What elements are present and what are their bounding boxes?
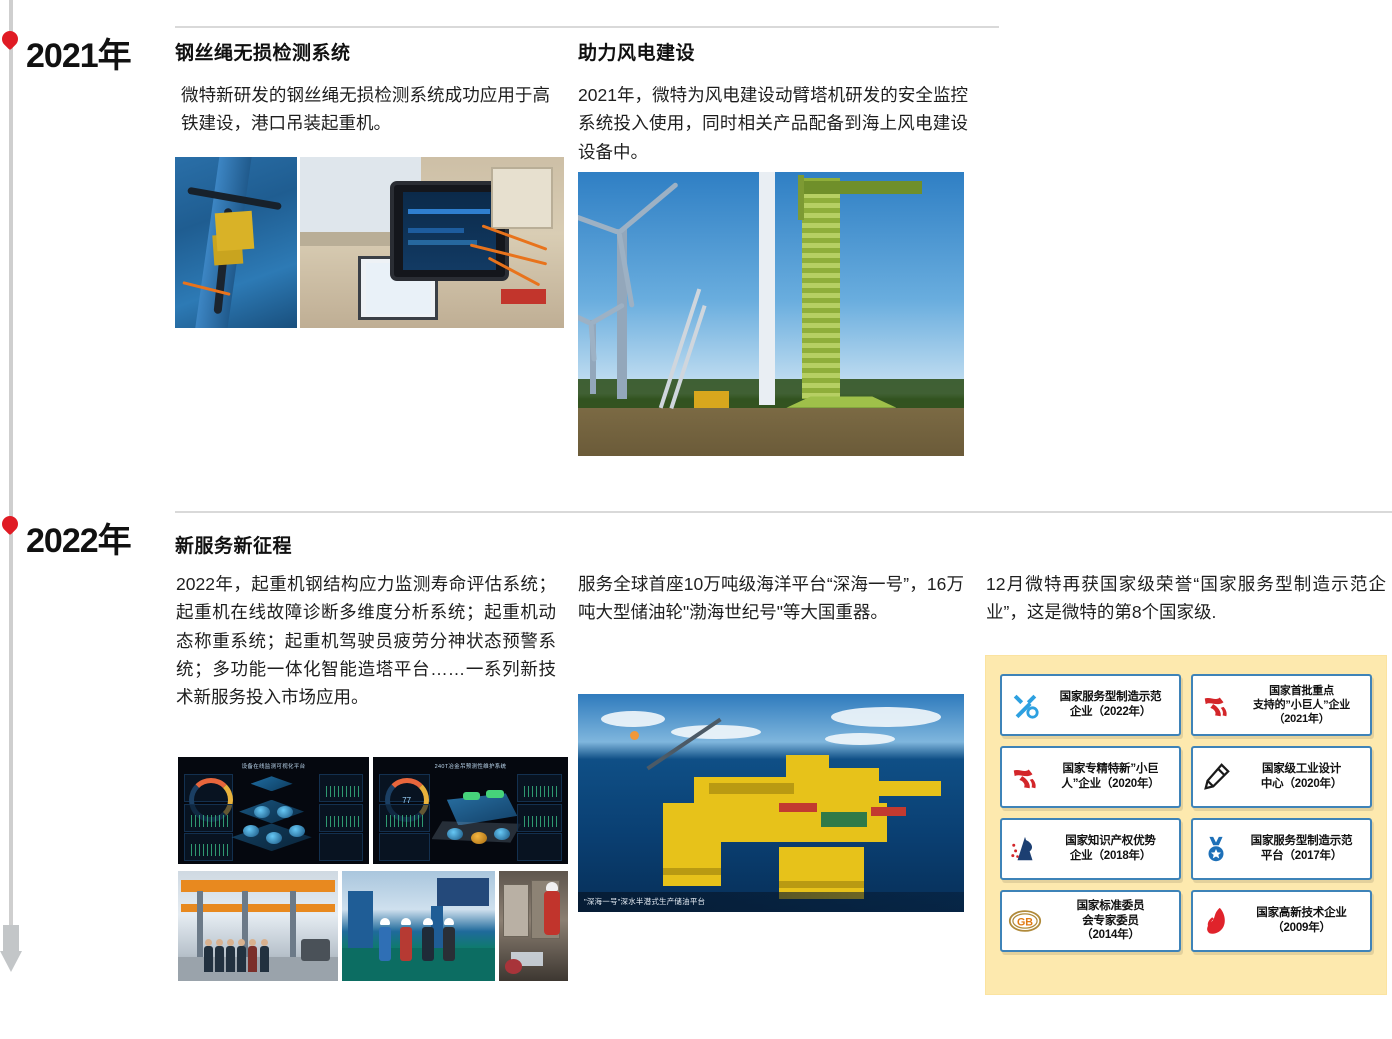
award-badge-industrial-design-2020[interactable]: 国家级工业设计中心（2020年） — [1191, 746, 1372, 808]
divider-2022 — [175, 511, 1392, 513]
offshore-crew-photo — [342, 871, 495, 981]
award-label: 国家首批重点支持的”小巨人”企业（2021年） — [1239, 684, 1364, 726]
award-label: 国家标准委员会专家委员（2014年） — [1048, 899, 1173, 943]
wire-rope-tablet-photo — [300, 157, 564, 328]
col-body-wind-power: 2021年，微特为风电建设动臂塔机研发的安全监控系统投入使用，同时相关产品配备到… — [578, 81, 968, 166]
little-giant-icon — [1199, 688, 1233, 722]
ip-badge-icon — [1008, 832, 1042, 866]
equipment-cabin-photo — [499, 871, 568, 981]
platform-caption-bar: "深海一号"深水半潜式生产储油平台 — [578, 892, 964, 912]
offshore-platform-photo: "深海一号"深水半潜式生产储油平台 — [578, 694, 964, 912]
hi-tech-icon — [1199, 904, 1233, 938]
section-2021-column-1: 钢丝绳无损检测系统 微特新研发的钢丝绳无损检测系统成功应用于高铁建设，港口吊装起… — [175, 38, 550, 138]
gb-standard-icon: GB — [1008, 904, 1042, 938]
wind-power-crane-photo — [578, 172, 964, 456]
col-body-wire-rope: 微特新研发的钢丝绳无损检测系统成功应用于高铁建设，港口吊装起重机。 — [175, 81, 550, 138]
svg-text:GB: GB — [1017, 916, 1033, 928]
design-pen-icon — [1199, 760, 1233, 794]
crane-workshop-photo — [178, 871, 338, 981]
award-badge-little-giant-2020[interactable]: 国家专精特新”小巨人”企业（2020年） — [1000, 746, 1181, 808]
award-badge-hi-tech-2009[interactable]: 国家高新技术企业（2009年） — [1191, 890, 1372, 952]
divider-2021 — [175, 26, 999, 28]
medal-icon — [1199, 832, 1233, 866]
little-giant-icon — [1008, 760, 1042, 794]
dashboard-photo-right: 240T冶金吊预测性维护系统 77 — [373, 757, 568, 864]
col-title-wire-rope: 钢丝绳无损检测系统 — [175, 38, 550, 65]
down-arrow-icon — [0, 925, 22, 975]
dashboard-left-title: 设备在线监测可视化平台 — [178, 762, 369, 770]
tools-icon — [1008, 688, 1042, 722]
award-label: 国家级工业设计中心（2020年） — [1239, 762, 1364, 791]
award-badge-service-manufacturing-2022[interactable]: 国家服务型制造示范企业（2022年） — [1000, 674, 1181, 736]
award-label: 国家高新技术企业（2009年） — [1239, 906, 1364, 935]
award-badge-service-platform-2017[interactable]: 国家服务型制造示范平台（2017年） — [1191, 818, 1372, 880]
award-badge-ip-advantage-2018[interactable]: 国家知识产权优势企业（2018年） — [1000, 818, 1181, 880]
year-label-2021: 2021年 — [26, 28, 131, 77]
timeline-marker-2021 — [2, 31, 20, 53]
wire-rope-sensor-photo — [175, 157, 297, 328]
award-label: 国家服务型制造示范企业（2022年） — [1048, 690, 1173, 719]
award-label: 国家专精特新”小巨人”企业（2020年） — [1048, 762, 1173, 791]
award-label: 国家知识产权优势企业（2018年） — [1048, 834, 1173, 863]
awards-grid: 国家服务型制造示范企业（2022年） 国家首批重点支持的”小巨人”企业（2021… — [1000, 674, 1372, 976]
timeline-rail — [9, 0, 13, 935]
col-body-marine-platform: 服务全球首座10万吨级海洋平台“深海一号”，16万吨大型储油轮"渤海世纪号"等大… — [578, 570, 964, 627]
section-2022-title: 新服务新征程 — [175, 531, 292, 558]
platform-caption-text: "深海一号"深水半潜式生产储油平台 — [584, 896, 705, 907]
award-badge-gb-standard-2014[interactable]: GB 国家标准委员会专家委员（2014年） — [1000, 890, 1181, 952]
timeline-page: 2021年 钢丝绳无损检测系统 微特新研发的钢丝绳无损检测系统成功应用于高铁建设… — [0, 0, 1392, 1039]
dashboard-right-title: 240T冶金吊预测性维护系统 — [373, 762, 568, 770]
year-label-2022: 2022年 — [26, 513, 131, 562]
col-body-national-honor: 12月微特再获国家级荣誉“国家服务型制造示范企业”，这是微特的第8个国家级. — [986, 570, 1386, 627]
timeline-marker-2022 — [2, 516, 20, 538]
award-badge-little-giant-2021[interactable]: 国家首批重点支持的”小巨人”企业（2021年） — [1191, 674, 1372, 736]
award-label: 国家服务型制造示范平台（2017年） — [1239, 834, 1364, 863]
section-2021-column-2: 助力风电建设 2021年，微特为风电建设动臂塔机研发的安全监控系统投入使用，同时… — [578, 38, 968, 166]
national-awards-panel: 国家服务型制造示范企业（2022年） 国家首批重点支持的”小巨人”企业（2021… — [985, 655, 1387, 995]
dashboard-photo-left: 设备在线监测可视化平台 — [178, 757, 369, 864]
col-title-wind-power: 助力风电建设 — [578, 38, 968, 65]
col-body-new-services: 2022年，起重机钢结构应力监测寿命评估系统； 起重机在线故障诊断多维度分析系统… — [176, 570, 556, 712]
